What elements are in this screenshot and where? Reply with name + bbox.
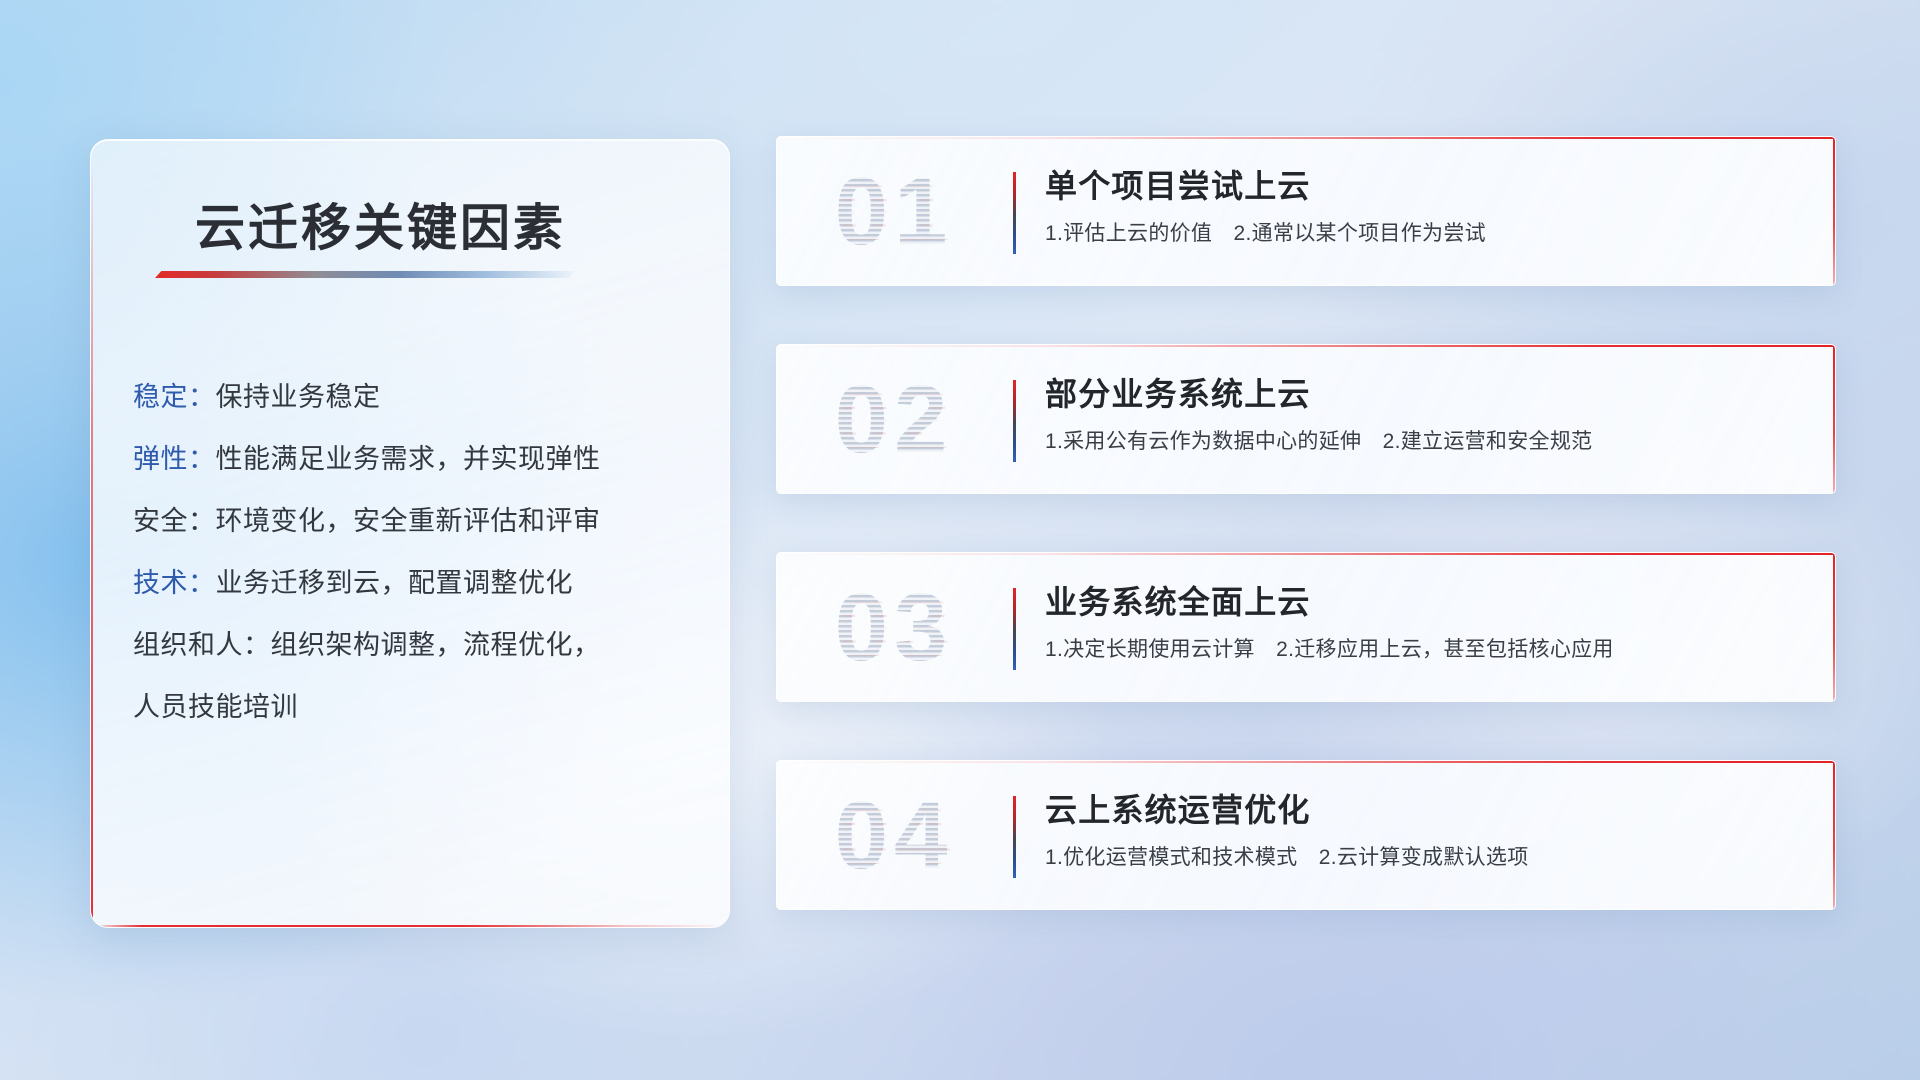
stage-card-title: 单个项目尝试上云 (1045, 163, 1805, 209)
stage-card[interactable]: 0202 部分业务系统上云 1.采用公有云作为数据中心的延伸 2.建立运营和安全… (776, 344, 1836, 494)
factor-key: 安全： (133, 506, 216, 536)
page-title: 云迁移关键因素 (195, 188, 566, 260)
stage-card-body: 云上系统运营优化 1.优化运营模式和技术模式 2.云计算变成默认选项 (1045, 787, 1805, 873)
list-item: 稳定：保持业务稳定 (133, 366, 703, 428)
list-item: 弹性：性能满足业务需求，并实现弹性 (133, 428, 703, 490)
title-underline-rule (155, 271, 575, 278)
factor-key: 组织和人： (133, 630, 271, 660)
factor-value: 业务迁移到云，配置调整优化 (216, 568, 574, 598)
slide-stage: 云迁移关键因素 稳定：保持业务稳定 弹性：性能满足业务需求，并实现弹性 安全：环… (0, 0, 1920, 1080)
stage-card-description: 1.优化运营模式和技术模式 2.云计算变成默认选项 (1045, 843, 1805, 873)
stage-card[interactable]: 0303 业务系统全面上云 1.决定长期使用云计算 2.迁移应用上云，甚至包括核… (776, 552, 1836, 702)
factor-value: 人员技能培训 (133, 692, 298, 722)
stage-number: 0101 (799, 149, 989, 275)
factor-value: 环境变化，安全重新评估和评审 (216, 506, 601, 536)
list-item: 安全：环境变化，安全重新评估和评审 (133, 490, 703, 552)
factor-value: 保持业务稳定 (216, 382, 381, 412)
stage-divider-bar (1013, 588, 1016, 670)
stage-divider-bar (1013, 796, 1016, 878)
stage-card-body: 部分业务系统上云 1.采用公有云作为数据中心的延伸 2.建立运营和安全规范 (1045, 371, 1805, 457)
stage-card-title: 部分业务系统上云 (1045, 371, 1805, 417)
stage-number: 0303 (799, 565, 989, 691)
factor-key: 技术： (133, 568, 216, 598)
key-factors-panel: 云迁移关键因素 稳定：保持业务稳定 弹性：性能满足业务需求，并实现弹性 安全：环… (90, 139, 730, 928)
stage-number-glitch-overlay: 04 (802, 773, 992, 899)
stage-divider-bar (1013, 172, 1016, 254)
stage-card-description: 1.评估上云的价值 2.通常以某个项目作为尝试 (1045, 219, 1805, 249)
stage-number-glitch-overlay: 01 (802, 149, 992, 275)
factor-value: 性能满足业务需求，并实现弹性 (216, 444, 601, 474)
stage-divider-bar (1013, 380, 1016, 462)
list-item: 人员技能培训 (133, 676, 703, 738)
stage-cards: 0101 单个项目尝试上云 1.评估上云的价值 2.通常以某个项目作为尝试 02… (776, 136, 1836, 968)
factor-value: 组织架构调整，流程优化， (271, 630, 601, 660)
stage-card-description: 1.采用公有云作为数据中心的延伸 2.建立运营和安全规范 (1045, 427, 1805, 457)
stage-card-body: 单个项目尝试上云 1.评估上云的价值 2.通常以某个项目作为尝试 (1045, 163, 1805, 249)
stage-card[interactable]: 0101 单个项目尝试上云 1.评估上云的价值 2.通常以某个项目作为尝试 (776, 136, 1836, 286)
stage-card[interactable]: 0404 云上系统运营优化 1.优化运营模式和技术模式 2.云计算变成默认选项 (776, 760, 1836, 910)
stage-card-title: 云上系统运营优化 (1045, 787, 1805, 833)
factor-key: 弹性： (133, 444, 216, 474)
stage-card-body: 业务系统全面上云 1.决定长期使用云计算 2.迁移应用上云，甚至包括核心应用 (1045, 579, 1805, 665)
stage-number: 0202 (799, 357, 989, 483)
stage-number-glitch-overlay: 03 (802, 565, 992, 691)
stage-number-glitch-overlay: 02 (802, 357, 992, 483)
factor-key: 稳定： (133, 382, 216, 412)
stage-card-title: 业务系统全面上云 (1045, 579, 1805, 625)
stage-number: 0404 (799, 773, 989, 899)
key-factors-list: 稳定：保持业务稳定 弹性：性能满足业务需求，并实现弹性 安全：环境变化，安全重新… (133, 366, 703, 738)
list-item: 组织和人：组织架构调整，流程优化， (133, 614, 703, 676)
list-item: 技术：业务迁移到云，配置调整优化 (133, 552, 703, 614)
stage-card-description: 1.决定长期使用云计算 2.迁移应用上云，甚至包括核心应用 (1045, 635, 1805, 665)
